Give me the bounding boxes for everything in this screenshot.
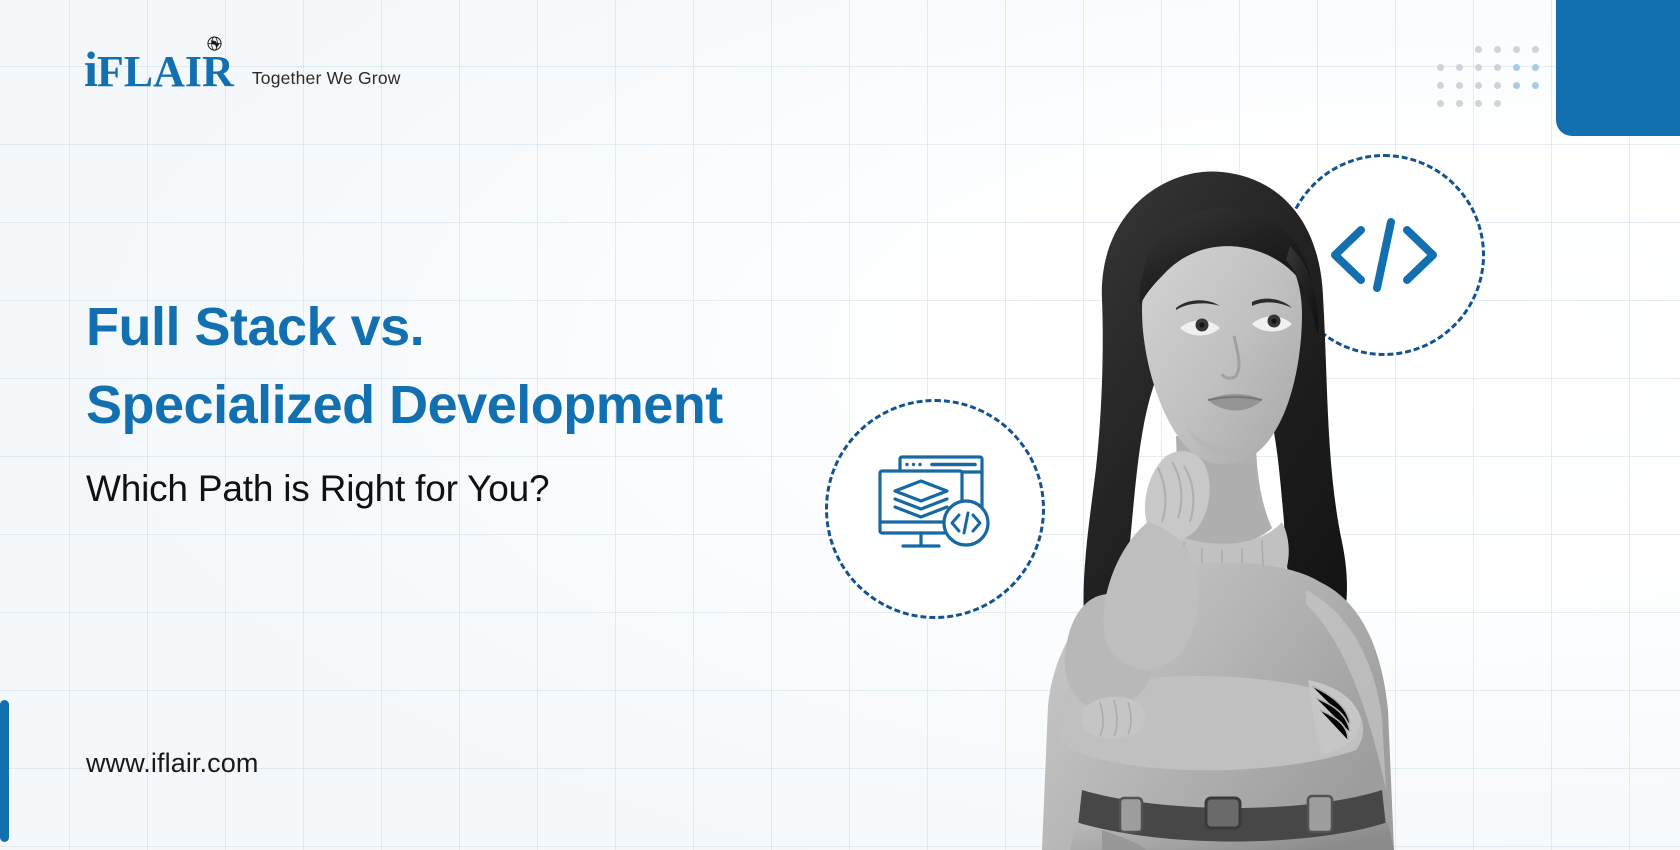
dot	[1532, 46, 1539, 53]
logo-letter-flair: FLAIR	[97, 47, 234, 96]
dot	[1437, 46, 1444, 53]
dot	[1418, 64, 1425, 71]
brand-logo[interactable]: iFLAIR Together We Grow	[84, 44, 401, 94]
dot	[1456, 82, 1463, 89]
logo-tagline: Together We Grow	[252, 68, 401, 94]
page-title: Full Stack vs. Specialized Development	[86, 288, 846, 444]
dot	[1475, 100, 1482, 107]
dot	[1513, 82, 1520, 89]
dot	[1456, 64, 1463, 71]
dot	[1494, 46, 1501, 53]
dot	[1532, 64, 1539, 71]
avatar	[990, 150, 1420, 850]
dot	[1532, 82, 1539, 89]
dot	[1418, 46, 1425, 53]
dot	[1437, 100, 1444, 107]
dot	[1418, 82, 1425, 89]
blue-corner-block	[1556, 0, 1680, 136]
website-url[interactable]: www.iflair.com	[86, 748, 258, 779]
dot-grid-pattern	[1418, 46, 1551, 118]
headline-line-1: Full Stack vs.	[86, 288, 846, 366]
hero-banner: iFLAIR Together We Grow Full Stack vs. S…	[0, 0, 1680, 850]
dot	[1494, 82, 1501, 89]
dot	[1437, 82, 1444, 89]
dot	[1456, 46, 1463, 53]
dot	[1513, 64, 1520, 71]
globe-icon	[207, 36, 222, 51]
headline-line-2: Specialized Development	[86, 366, 846, 444]
dot	[1418, 100, 1425, 107]
monitor-layers-code-icon	[874, 453, 996, 565]
dot	[1532, 100, 1539, 107]
logo-letter-i: i	[84, 41, 97, 97]
dot	[1494, 100, 1501, 107]
hero-subtitle: Which Path is Right for You?	[86, 466, 846, 512]
dot	[1513, 46, 1520, 53]
monitor-badge	[825, 399, 1045, 619]
dot	[1494, 64, 1501, 71]
hero-copy: Full Stack vs. Specialized Development W…	[86, 288, 846, 512]
dot	[1475, 64, 1482, 71]
dot	[1437, 64, 1444, 71]
dot	[1513, 100, 1520, 107]
left-accent-bar	[0, 700, 9, 842]
dot	[1456, 100, 1463, 107]
dot	[1475, 46, 1482, 53]
dot	[1475, 82, 1482, 89]
logo-wordmark: iFLAIR	[84, 44, 234, 94]
